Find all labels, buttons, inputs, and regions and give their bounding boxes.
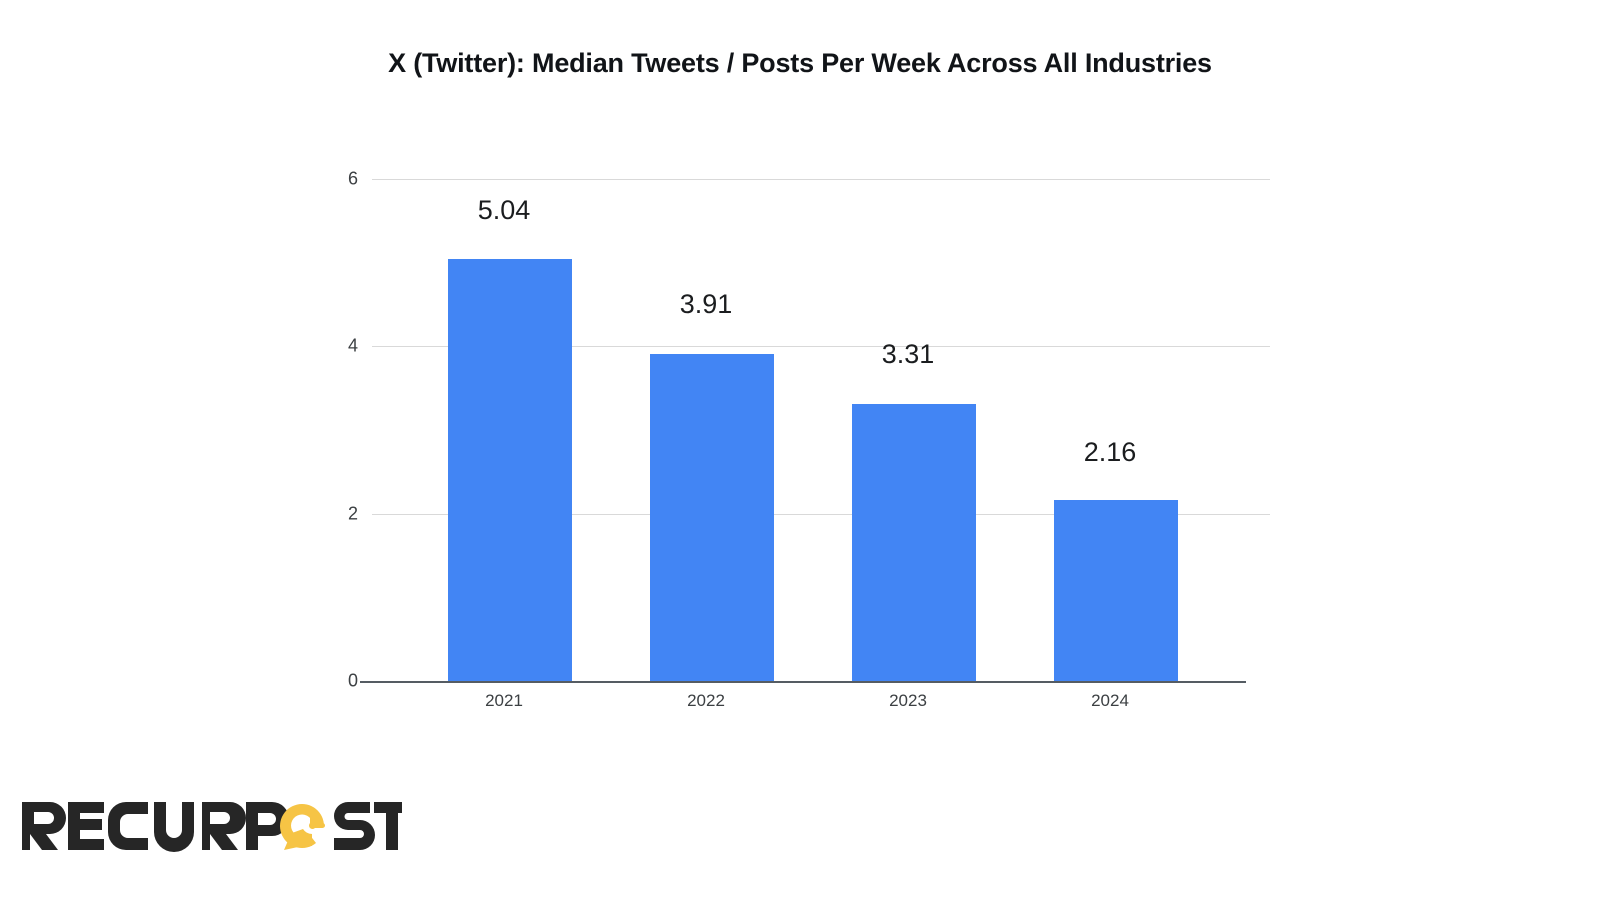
- bars-group: [0, 0, 1600, 681]
- bar-chart: 6 4 2 0 5.04 3.91 3.31 2.16 2021 2022 20…: [0, 0, 1600, 760]
- clock-refresh-icon: [280, 804, 325, 850]
- x-axis-tick-2024: 2024: [1091, 691, 1129, 711]
- bar-value-2021: 5.04: [478, 195, 531, 226]
- logo-wordmark-right: [334, 802, 402, 850]
- x-axis-tick-2022: 2022: [687, 691, 725, 711]
- bar-value-2024: 2.16: [1084, 437, 1137, 468]
- bar-2022[interactable]: [650, 354, 774, 681]
- x-axis-line: [360, 681, 1246, 683]
- x-axis-tick-2021: 2021: [485, 691, 523, 711]
- bar-2024[interactable]: [1054, 500, 1178, 681]
- logo-wordmark-left: [22, 802, 289, 852]
- bar-value-2023: 3.31: [882, 339, 935, 370]
- bar-2023[interactable]: [852, 404, 976, 681]
- bar-2021[interactable]: [448, 259, 572, 681]
- bar-value-2022: 3.91: [680, 289, 733, 320]
- recurpost-logo: [22, 795, 402, 857]
- x-axis-tick-2023: 2023: [889, 691, 927, 711]
